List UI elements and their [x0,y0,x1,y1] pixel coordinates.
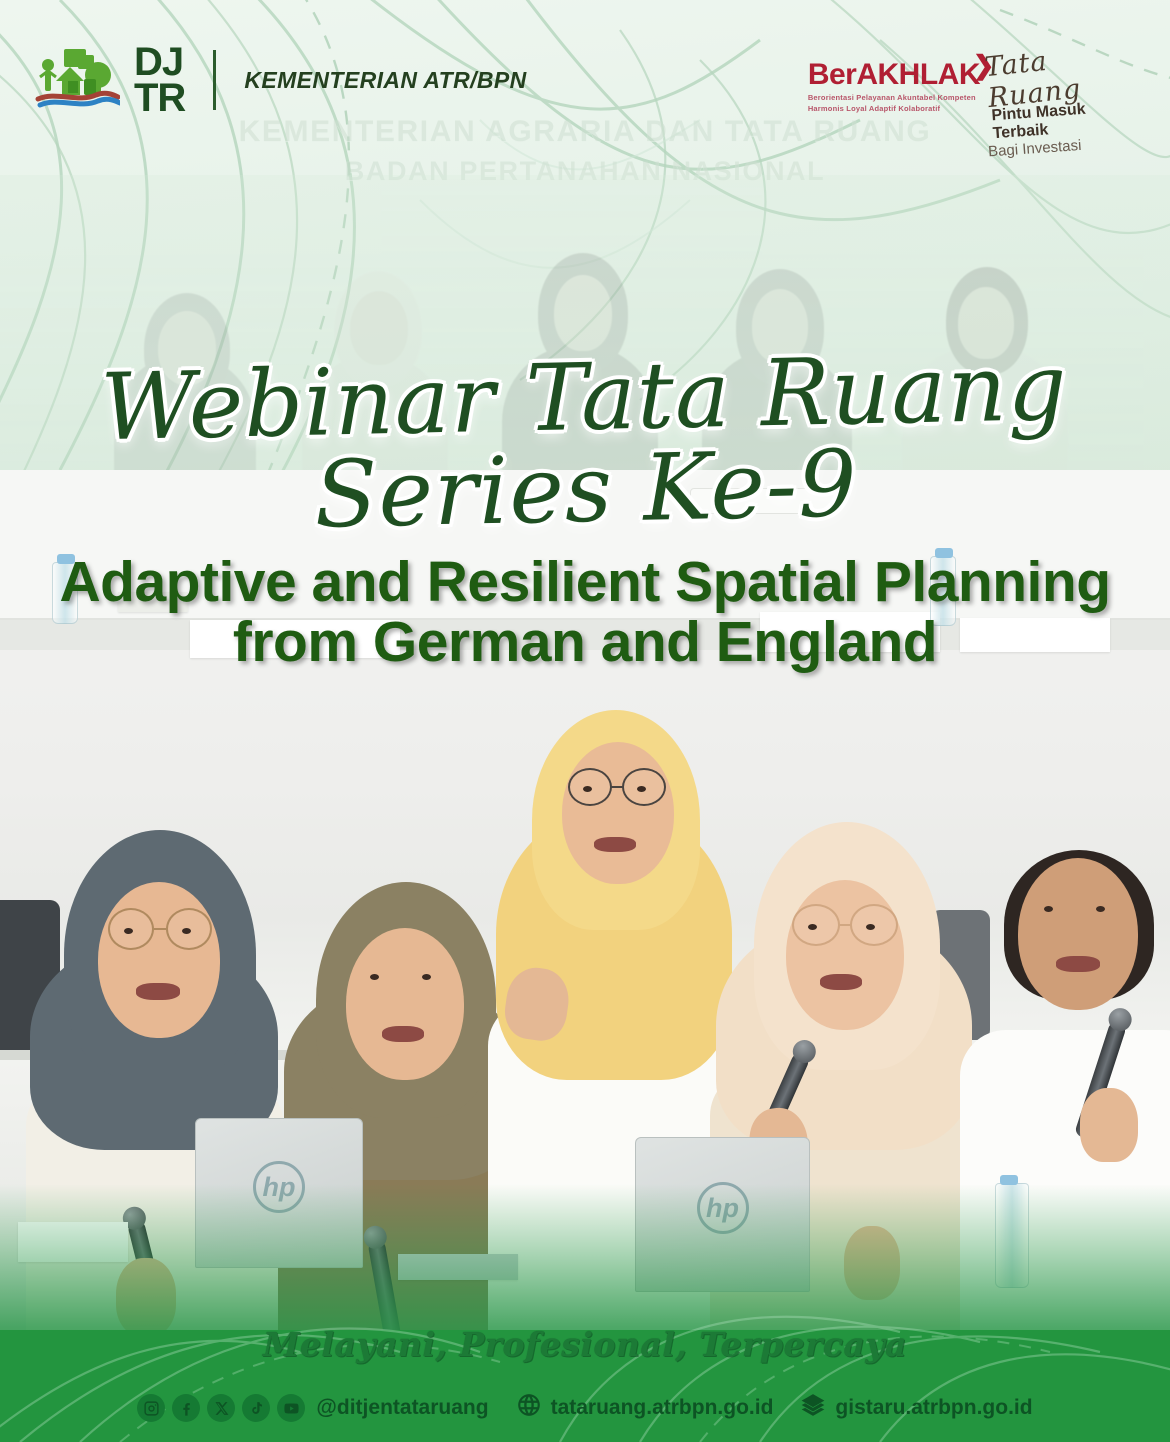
footer-bar: @ditjentataruang tataruang.atrbpn.go.id … [0,1392,1170,1424]
berakhlak-title: BerAKHLAK [808,58,980,91]
x-icon[interactable] [207,1394,235,1422]
facebook-icon[interactable] [172,1394,200,1422]
berakhlak-values: Berorientasi Pelayanan Akuntabel Kompete… [808,93,980,115]
webinar-poster: KEMENTERIAN AGRARIA DAN TATA RUANG BADAN… [0,0,1170,1442]
tagline: Melayani, Profesional, Terpercaya [0,1325,1170,1364]
poster-header: DJ TR KEMENTERIAN ATR/BPN BerAKHLAK ❯ Be… [0,0,1170,150]
tata-ruang-badge: Tata Ruang Pintu Masuk Terbaik Bagi Inve… [986,44,1144,155]
djtr-wordmark: DJ TR [134,44,185,116]
social-icon-group: @ditjentataruang [137,1394,488,1422]
topic-line-2: from German and England [0,612,1170,672]
tiktok-icon[interactable] [242,1394,270,1422]
berakhlak-logo: BerAKHLAK ❯ Berorientasi Pelayanan Akunt… [808,58,980,115]
ministry-label: KEMENTERIAN ATR/BPN [244,67,526,94]
globe-icon [516,1392,542,1424]
webinar-series-title: Webinar Tata Ruang Series Ke-9 [0,340,1170,548]
portal-link[interactable]: gistaru.atrbpn.go.id [800,1392,1032,1424]
berakhlak-values-line-2: Harmonis Loyal Adaptif Kolaboratif [808,104,980,115]
djtr-logo[interactable]: DJ TR KEMENTERIAN ATR/BPN [34,44,527,116]
youtube-icon[interactable] [277,1394,305,1422]
logo-divider [213,50,216,110]
instagram-icon[interactable] [137,1394,165,1422]
layers-icon [800,1392,826,1424]
djtr-line-2: TR [134,80,185,116]
djtr-emblem-icon [34,45,120,115]
webinar-topic-title: Adaptive and Resilient Spatial Planning … [0,552,1170,673]
djtr-line-1: DJ [134,44,185,80]
social-handle[interactable]: @ditjentataruang [316,1396,488,1420]
topic-line-1: Adaptive and Resilient Spatial Planning [59,550,1110,614]
berakhlak-values-line-1: Berorientasi Pelayanan Akuntabel Kompete… [808,93,980,104]
title-block: Webinar Tata Ruang Series Ke-9 Adaptive … [0,352,1170,673]
portal-url[interactable]: gistaru.atrbpn.go.id [835,1396,1032,1420]
berakhlak-wordmark: BerAKHLAK ❯ [808,58,980,92]
website-link[interactable]: tataruang.atrbpn.go.id [516,1392,774,1424]
website-url[interactable]: tataruang.atrbpn.go.id [551,1396,774,1420]
